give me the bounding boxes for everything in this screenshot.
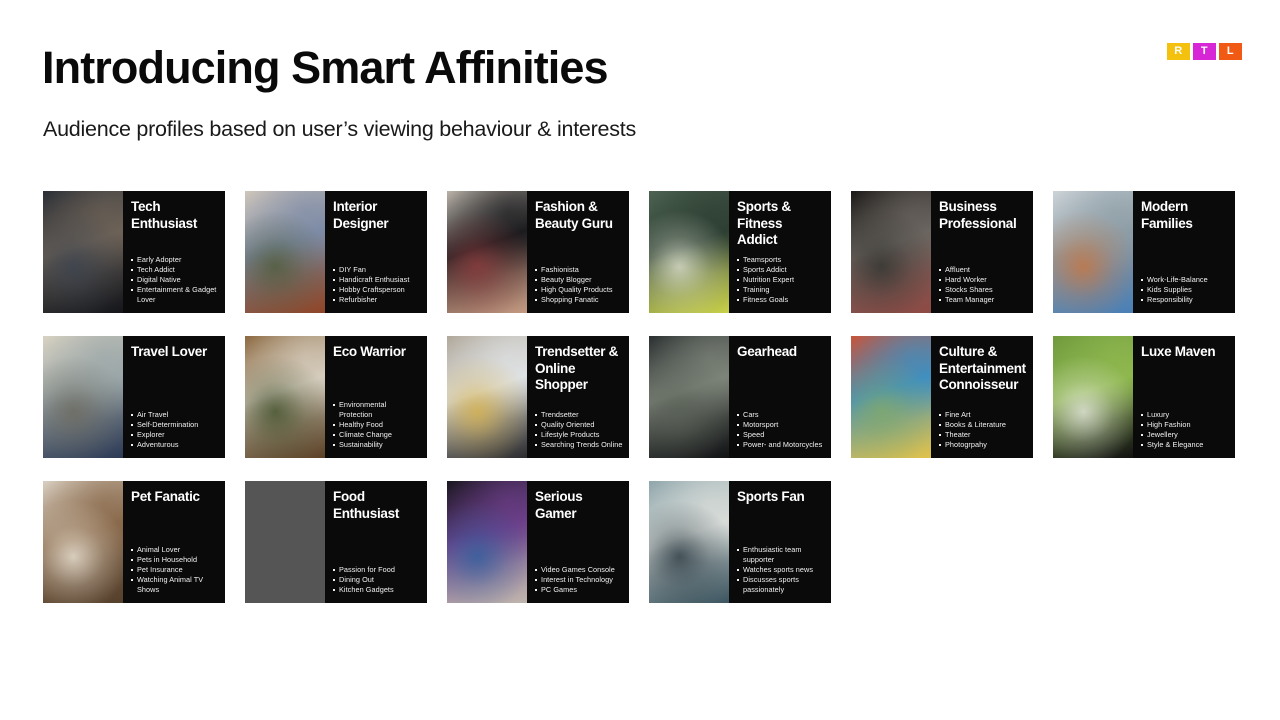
card-photo: [43, 191, 123, 313]
card-bullet-item: Sports Addict: [737, 265, 825, 275]
card-bullet-item: Theater: [939, 430, 1027, 440]
card-bullet-item: Kitchen Gadgets: [333, 585, 421, 595]
card-bullet-item: Fitness Goals: [737, 295, 825, 305]
card-title: Luxe Maven: [1141, 344, 1229, 361]
card-photo-overlay: [851, 191, 931, 313]
card-bullet-item: Entertainment & Gadget Lover: [131, 285, 219, 305]
card-photo-overlay: [1053, 336, 1133, 458]
card-title: Sports & Fitness Addict: [737, 199, 825, 249]
card-panel: Modern FamiliesWork-Life-BalanceKids Sup…: [1133, 191, 1235, 313]
card-photo-overlay: [447, 336, 527, 458]
card-panel: Eco WarriorEnvironmental ProtectionHealt…: [325, 336, 427, 458]
card-bullet-item: PC Games: [535, 585, 623, 595]
card-bullet-item: High Fashion: [1141, 420, 1229, 430]
card-bullet-item: Team Manager: [939, 295, 1027, 305]
card-photo-overlay: [1053, 191, 1133, 313]
card-bullet-item: Tech Addict: [131, 265, 219, 275]
page-title: Introducing Smart Affinities: [42, 44, 608, 91]
slide-root: Introducing Smart Affinities Audience pr…: [0, 0, 1280, 720]
card-photo: [1053, 191, 1133, 313]
card-bullet-item: Sustainability: [333, 440, 421, 450]
card-panel: Fashion & Beauty GuruFashionistaBeauty B…: [527, 191, 629, 313]
card-bullet-item: Dining Out: [333, 575, 421, 585]
affinity-card[interactable]: Fashion & Beauty GuruFashionistaBeauty B…: [447, 191, 629, 313]
card-bullet-list: Early AdopterTech AddictDigital NativeEn…: [131, 255, 219, 307]
card-bullet-item: Nutrition Expert: [737, 275, 825, 285]
card-bullet-item: High Quality Products: [535, 285, 623, 295]
card-title: Fashion & Beauty Guru: [535, 199, 623, 232]
card-title: Trendsetter & Online Shopper: [535, 344, 623, 394]
card-photo-overlay: [649, 481, 729, 603]
card-photo: [245, 481, 325, 603]
card-bullet-item: Hard Worker: [939, 275, 1027, 285]
card-photo-overlay: [649, 191, 729, 313]
card-bullet-list: FashionistaBeauty BloggerHigh Quality Pr…: [535, 265, 623, 307]
card-panel: Sports FanEnthusiastic team supporterWat…: [729, 481, 831, 603]
card-title: Tech Enthusiast: [131, 199, 219, 232]
card-bullet-item: Digital Native: [131, 275, 219, 285]
card-title: Serious Gamer: [535, 489, 623, 522]
affinity-card[interactable]: Tech EnthusiastEarly AdopterTech AddictD…: [43, 191, 225, 313]
card-bullet-list: Environmental ProtectionHealthy FoodClim…: [333, 400, 421, 452]
affinity-card[interactable]: Eco WarriorEnvironmental ProtectionHealt…: [245, 336, 427, 458]
affinity-card[interactable]: Sports FanEnthusiastic team supporterWat…: [649, 481, 831, 603]
card-bullet-item: Early Adopter: [131, 255, 219, 265]
page-subtitle: Audience profiles based on user’s viewin…: [43, 117, 636, 142]
card-title: Sports Fan: [737, 489, 825, 506]
card-bullet-item: Environmental Protection: [333, 400, 421, 420]
card-panel: Serious GamerVideo Games ConsoleInterest…: [527, 481, 629, 603]
card-photo: [447, 191, 527, 313]
affinity-card[interactable]: Pet FanaticAnimal LoverPets in Household…: [43, 481, 225, 603]
card-photo-overlay: [43, 336, 123, 458]
card-photo: [447, 481, 527, 603]
card-panel: Travel LoverAir TravelSelf-Determination…: [123, 336, 225, 458]
card-bullet-item: Animal Lover: [131, 545, 219, 555]
card-title: Gearhead: [737, 344, 825, 361]
card-photo: [649, 481, 729, 603]
card-photo-overlay: [245, 191, 325, 313]
card-bullet-item: Quality Oriented: [535, 420, 623, 430]
card-panel: Sports & Fitness AddictTeamsportsSports …: [729, 191, 831, 313]
affinity-card[interactable]: Culture & Entertainment ConnoisseurFine …: [851, 336, 1033, 458]
affinity-card-grid: Tech EnthusiastEarly AdopterTech AddictD…: [43, 191, 1238, 603]
affinity-card[interactable]: Sports & Fitness AddictTeamsportsSports …: [649, 191, 831, 313]
card-bullet-item: Teamsports: [737, 255, 825, 265]
card-bullet-item: Work-Life-Balance: [1141, 275, 1229, 285]
card-photo: [43, 481, 123, 603]
card-photo: [649, 191, 729, 313]
card-title: Interior Designer: [333, 199, 421, 232]
card-bullet-list: Video Games ConsoleInterest in Technolog…: [535, 565, 623, 597]
logo-tile-r: R: [1167, 43, 1190, 60]
card-bullet-list: Air TravelSelf-DeterminationExplorerAdve…: [131, 410, 219, 452]
card-bullet-list: Animal LoverPets in HouseholdPet Insuran…: [131, 545, 219, 597]
card-panel: Trendsetter & Online ShopperTrendsetterQ…: [527, 336, 629, 458]
card-bullet-list: CarsMotorsportSpeedPower- and Motorcycle…: [737, 410, 825, 452]
card-photo: [649, 336, 729, 458]
card-bullet-list: Work-Life-BalanceKids SuppliesResponsibi…: [1141, 275, 1229, 307]
card-bullet-item: Interest in Technology: [535, 575, 623, 585]
card-bullet-item: Power- and Motorcycles: [737, 440, 825, 450]
card-title: Eco Warrior: [333, 344, 421, 361]
card-bullet-item: Photogrpahy: [939, 440, 1027, 450]
card-photo-overlay: [649, 336, 729, 458]
affinity-card[interactable]: Luxe MavenLuxuryHigh FashionJewellerySty…: [1053, 336, 1235, 458]
rtl-logo: RTL: [1167, 43, 1242, 60]
card-bullet-item: Kids Supplies: [1141, 285, 1229, 295]
card-bullet-item: Pets in Household: [131, 555, 219, 565]
card-bullet-item: Discusses sports passionately: [737, 575, 825, 595]
card-bullet-item: Books & Literature: [939, 420, 1027, 430]
card-panel: Pet FanaticAnimal LoverPets in Household…: [123, 481, 225, 603]
affinity-card[interactable]: Interior DesignerDIY FanHandicraft Enthu…: [245, 191, 427, 313]
card-bullet-item: Passion for Food: [333, 565, 421, 575]
card-bullet-item: Speed: [737, 430, 825, 440]
card-bullet-item: Motorsport: [737, 420, 825, 430]
card-title: Modern Families: [1141, 199, 1229, 232]
card-title: Business Professional: [939, 199, 1027, 232]
affinity-card[interactable]: Serious GamerVideo Games ConsoleInterest…: [447, 481, 629, 603]
card-bullet-item: Refurbisher: [333, 295, 421, 305]
card-panel: Business ProfessionalAffluentHard Worker…: [931, 191, 1033, 313]
card-bullet-item: Self-Determination: [131, 420, 219, 430]
card-photo-overlay: [43, 481, 123, 603]
card-bullet-item: Jewellery: [1141, 430, 1229, 440]
card-title: Travel Lover: [131, 344, 219, 361]
affinity-card[interactable]: GearheadCarsMotorsportSpeedPower- and Mo…: [649, 336, 831, 458]
card-panel: Tech EnthusiastEarly AdopterTech AddictD…: [123, 191, 225, 313]
card-bullet-item: Hobby Craftsperson: [333, 285, 421, 295]
card-bullet-item: Adventurous: [131, 440, 219, 450]
card-bullet-item: Climate Change: [333, 430, 421, 440]
affinity-card[interactable]: Business ProfessionalAffluentHard Worker…: [851, 191, 1033, 313]
card-photo-overlay: [447, 481, 527, 603]
card-bullet-item: Beauty Blogger: [535, 275, 623, 285]
affinity-card[interactable]: Travel LoverAir TravelSelf-Determination…: [43, 336, 225, 458]
card-bullet-item: Shopping Fanatic: [535, 295, 623, 305]
card-photo: [245, 191, 325, 313]
card-bullet-item: DIY Fan: [333, 265, 421, 275]
card-photo-overlay: [447, 191, 527, 313]
card-bullet-item: Enthusiastic team supporter: [737, 545, 825, 565]
card-bullet-item: Searching Trends Online: [535, 440, 623, 450]
card-photo-overlay: [245, 336, 325, 458]
card-bullet-item: Explorer: [131, 430, 219, 440]
card-bullet-item: Luxury: [1141, 410, 1229, 420]
card-bullet-item: Watching Animal TV Shows: [131, 575, 219, 595]
card-photo: [1053, 336, 1133, 458]
card-bullet-item: Fashionista: [535, 265, 623, 275]
card-bullet-item: Healthy Food: [333, 420, 421, 430]
card-photo: [851, 336, 931, 458]
card-photo-overlay: [851, 336, 931, 458]
card-bullet-item: Cars: [737, 410, 825, 420]
card-bullet-item: Pet Insurance: [131, 565, 219, 575]
affinity-card[interactable]: Modern FamiliesWork-Life-BalanceKids Sup…: [1053, 191, 1235, 313]
card-photo-overlay: [43, 191, 123, 313]
card-bullet-list: Enthusiastic team supporterWatches sport…: [737, 545, 825, 597]
card-bullet-list: TeamsportsSports AddictNutrition ExpertT…: [737, 255, 825, 307]
card-bullet-list: AffluentHard WorkerStocks SharesTeam Man…: [939, 265, 1027, 307]
card-bullet-item: Training: [737, 285, 825, 295]
card-photo-overlay: [245, 481, 325, 603]
card-bullet-list: DIY FanHandicraft EnthusiastHobby Crafts…: [333, 265, 421, 307]
card-bullet-item: Stocks Shares: [939, 285, 1027, 295]
affinity-card[interactable]: Food EnthusiastPassion for FoodDining Ou…: [245, 481, 427, 603]
card-photo: [851, 191, 931, 313]
card-bullet-item: Style & Elegance: [1141, 440, 1229, 450]
card-bullet-item: Lifestyle Products: [535, 430, 623, 440]
card-title: Pet Fanatic: [131, 489, 219, 506]
card-bullet-list: LuxuryHigh FashionJewelleryStyle & Elega…: [1141, 410, 1229, 452]
logo-tile-l: L: [1219, 43, 1242, 60]
card-panel: Interior DesignerDIY FanHandicraft Enthu…: [325, 191, 427, 313]
card-bullet-list: Fine ArtBooks & LiteratureTheaterPhotogr…: [939, 410, 1027, 452]
card-bullet-list: TrendsetterQuality OrientedLifestyle Pro…: [535, 410, 623, 452]
affinity-card[interactable]: Trendsetter & Online ShopperTrendsetterQ…: [447, 336, 629, 458]
card-photo: [43, 336, 123, 458]
card-bullet-item: Watches sports news: [737, 565, 825, 575]
card-panel: Food EnthusiastPassion for FoodDining Ou…: [325, 481, 427, 603]
logo-tile-t: T: [1193, 43, 1216, 60]
card-bullet-item: Air Travel: [131, 410, 219, 420]
card-bullet-item: Responsibility: [1141, 295, 1229, 305]
card-bullet-list: Passion for FoodDining OutKitchen Gadget…: [333, 565, 421, 597]
card-photo: [245, 336, 325, 458]
card-title: Culture & Entertainment Connoisseur: [939, 344, 1027, 394]
card-title: Food Enthusiast: [333, 489, 421, 522]
card-bullet-item: Trendsetter: [535, 410, 623, 420]
card-panel: GearheadCarsMotorsportSpeedPower- and Mo…: [729, 336, 831, 458]
card-bullet-item: Handicraft Enthusiast: [333, 275, 421, 285]
card-bullet-item: Fine Art: [939, 410, 1027, 420]
card-bullet-item: Affluent: [939, 265, 1027, 275]
card-photo: [447, 336, 527, 458]
card-panel: Luxe MavenLuxuryHigh FashionJewellerySty…: [1133, 336, 1235, 458]
card-panel: Culture & Entertainment ConnoisseurFine …: [931, 336, 1033, 458]
card-bullet-item: Video Games Console: [535, 565, 623, 575]
